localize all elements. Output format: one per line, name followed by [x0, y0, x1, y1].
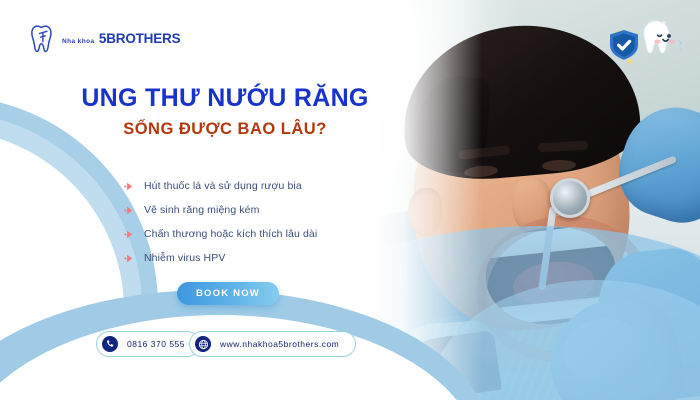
brand-name: 5BROTHERS — [99, 31, 180, 46]
globe-icon — [195, 336, 211, 352]
page-subtitle: SỐNG ĐƯỢC BAO LÂU? — [65, 120, 385, 139]
arrow-bullet-icon — [124, 254, 144, 263]
arrow-bullet-icon — [124, 206, 144, 215]
list-item: Chấn thương hoặc kích thích lâu dài — [124, 224, 317, 244]
dental-clinic-banner: Nha khoa 5BROTHERS UNG THƯ NƯỚU RĂNG SỐN… — [0, 0, 700, 400]
list-item: Nhiễm virus HPV — [124, 248, 317, 268]
list-item-label: Nhiễm virus HPV — [144, 252, 225, 264]
arrow-bullet-icon — [124, 182, 144, 191]
brand-tagline: Nha khoa — [62, 38, 94, 45]
phone-icon — [102, 336, 118, 352]
page-title: UNG THƯ NƯỚU RĂNG — [65, 84, 385, 113]
risk-factor-list: Hút thuốc lá và sử dụng rượu bia Vệ sinh… — [124, 176, 317, 272]
list-item: Vệ sinh răng miệng kém — [124, 200, 317, 220]
list-item-label: Chấn thương hoặc kích thích lâu dài — [144, 228, 317, 240]
phone-pill[interactable]: 0816 370 555 — [96, 331, 200, 357]
list-item: Hút thuốc lá và sử dụng rượu bia — [124, 176, 317, 196]
arrow-bullet-icon — [124, 230, 144, 239]
list-item-label: Vệ sinh răng miệng kém — [144, 204, 259, 216]
website-pill[interactable]: www.nhakhoa5brothers.com — [189, 331, 356, 357]
list-item-label: Hút thuốc lá và sử dụng rượu bia — [144, 180, 302, 192]
tooth-logo-icon — [30, 24, 56, 54]
book-now-button[interactable]: BOOK NOW — [177, 282, 279, 305]
tooth-shield-mascot — [600, 14, 686, 70]
website-url: www.nhakhoa5brothers.com — [220, 339, 339, 349]
contact-bar: 0816 370 555 www.nhakhoa5brothers.com — [96, 331, 356, 357]
phone-number: 0816 370 555 — [127, 339, 185, 349]
dental-mirror-icon — [550, 178, 590, 218]
brand-logo-text: Nha khoa 5BROTHERS — [62, 31, 180, 47]
brand-logo[interactable]: Nha khoa 5BROTHERS — [30, 24, 180, 54]
